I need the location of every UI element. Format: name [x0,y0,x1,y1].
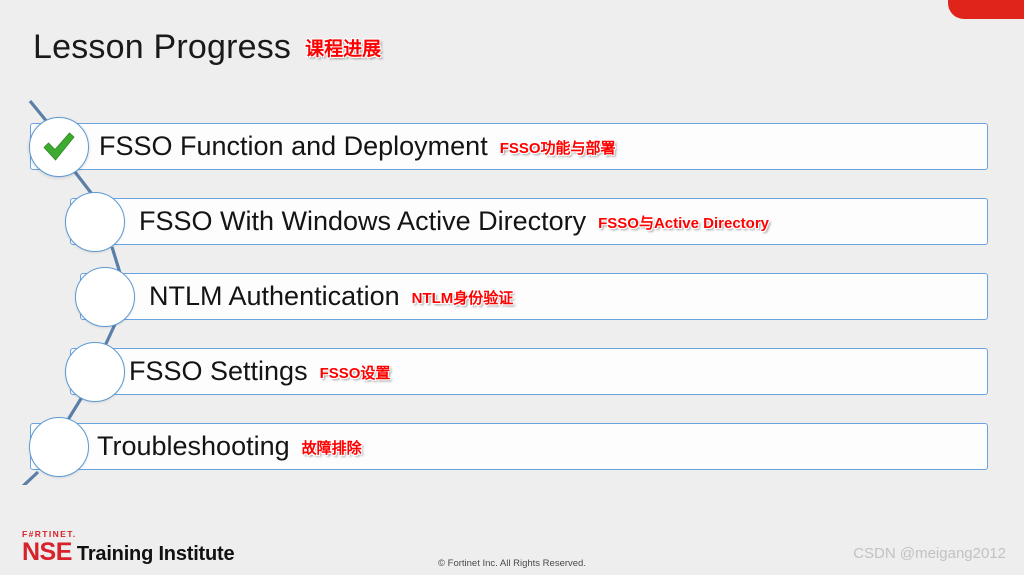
step-1-label-chinese: FSSO功能与部署 [500,137,616,158]
check-icon [39,127,79,167]
step-2-label-english: FSSO With Windows Active Directory [139,206,586,237]
step-row-1[interactable]: FSSO Function and Deployment FSSO功能与部署 [30,123,988,170]
step-row-2[interactable]: FSSO With Windows Active Directory FSSO与… [70,198,988,245]
step-4-labels: FSSO Settings FSSO设置 [129,356,390,387]
step-2-node[interactable] [65,192,125,252]
csdn-watermark: CSDN @meigang2012 [853,545,1006,562]
step-4-label-english: FSSO Settings [129,356,308,387]
page-title-english: Lesson Progress [33,28,291,67]
step-3-node[interactable] [75,267,135,327]
step-1-label-english: FSSO Function and Deployment [99,131,488,162]
step-1-node[interactable] [29,117,89,177]
step-5-label-english: Troubleshooting [97,431,290,462]
step-row-4[interactable]: FSSO Settings FSSO设置 [70,348,988,395]
step-5-label-chinese: 故障排除 [302,437,362,458]
step-3-label-english: NTLM Authentication [149,281,400,312]
step-4-node[interactable] [65,342,125,402]
page-title: Lesson Progress 课程进展 [33,28,381,67]
step-1-labels: FSSO Function and Deployment FSSO功能与部署 [99,131,616,162]
step-4-label-chinese: FSSO设置 [320,362,391,383]
step-row-5[interactable]: Troubleshooting 故障排除 [30,423,988,470]
top-right-accent-bar [948,0,1024,19]
step-5-node[interactable] [29,417,89,477]
step-row-3[interactable]: NTLM Authentication NTLM身份验证 [80,273,988,320]
fortinet-wordmark: F#RTINET. [22,530,234,539]
page-title-chinese: 课程进展 [305,34,381,61]
step-3-label-chinese: NTLM身份验证 [412,287,514,308]
step-3-labels: NTLM Authentication NTLM身份验证 [149,281,513,312]
step-5-labels: Troubleshooting 故障排除 [97,431,362,462]
lesson-progress-diagram: FSSO Function and Deployment FSSO功能与部署 F… [0,95,1024,485]
step-2-label-chinese: FSSO与Active Directory [598,212,769,233]
step-2-labels: FSSO With Windows Active Directory FSSO与… [139,206,769,237]
